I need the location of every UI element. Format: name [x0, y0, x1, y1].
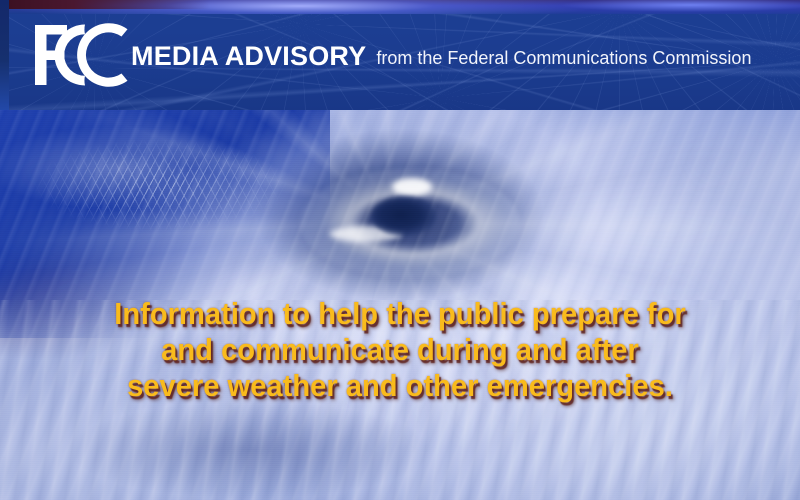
header-subtitle: from the Federal Communications Commissi…	[376, 49, 751, 67]
header-title: MEDIA ADVISORY	[131, 43, 366, 70]
headline-line-1: Information to help the public prepare f…	[24, 296, 776, 332]
header-band: MEDIA ADVISORY from the Federal Communic…	[0, 0, 800, 110]
fcc-logo-icon	[33, 23, 130, 87]
headline-line-2: and communicate during and after	[24, 332, 776, 368]
headline-line-3: severe weather and other emergencies.	[24, 368, 776, 404]
fcc-media-advisory-graphic: Information to help the public prepare f…	[0, 0, 800, 500]
hero-headline: Information to help the public prepare f…	[24, 296, 776, 404]
header-content-row: MEDIA ADVISORY from the Federal Communic…	[0, 0, 800, 110]
